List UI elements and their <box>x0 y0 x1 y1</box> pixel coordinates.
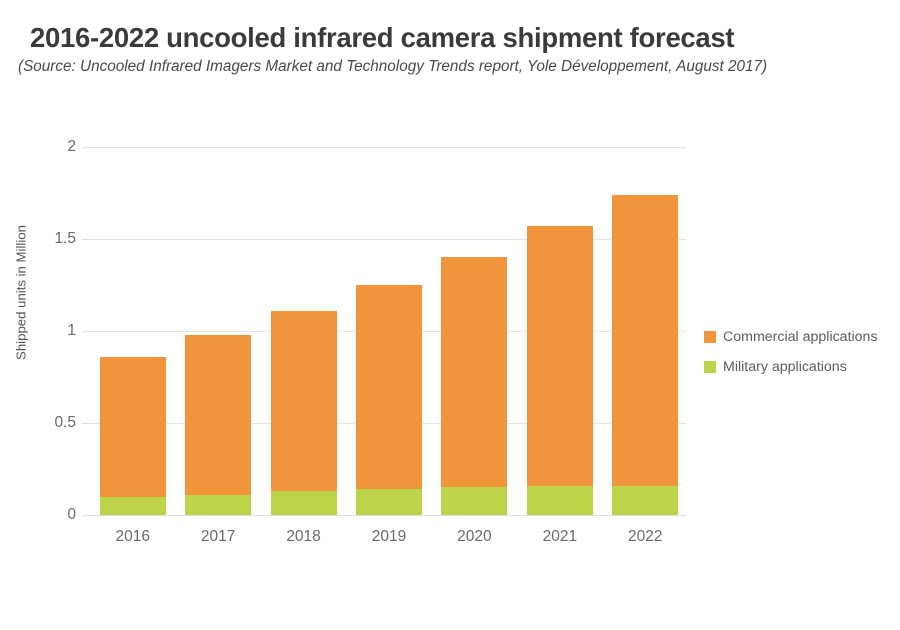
bar-segment-military[interactable] <box>356 489 422 515</box>
gridline <box>88 147 686 148</box>
axis-baseline <box>88 515 686 516</box>
bar-group[interactable] <box>612 195 678 515</box>
bar-segment-commercial[interactable] <box>612 195 678 486</box>
x-tick-label: 2019 <box>356 528 422 546</box>
bar-group[interactable] <box>271 311 337 515</box>
plot-area <box>88 147 686 515</box>
legend-item[interactable]: Commercial applications <box>704 325 894 349</box>
bar-segment-commercial[interactable] <box>356 285 422 489</box>
chart-title: 2016-2022 uncooled infrared camera shipm… <box>30 22 880 54</box>
legend-swatch-icon <box>704 331 716 343</box>
legend-swatch-icon <box>704 361 716 373</box>
bar-segment-military[interactable] <box>185 495 251 515</box>
chart-legend: Commercial applicationsMilitary applicat… <box>704 325 894 385</box>
y-axis-ticks: 00.511.52 <box>14 147 76 515</box>
bar-group[interactable] <box>356 285 422 515</box>
bar-segment-military[interactable] <box>100 497 166 515</box>
y-tick-label: 2 <box>16 138 76 156</box>
chart-container: 2016-2022 uncooled infrared camera shipm… <box>0 0 900 630</box>
bar-segment-military[interactable] <box>441 487 507 515</box>
bar-segment-military[interactable] <box>527 486 593 515</box>
bar-group[interactable] <box>185 335 251 515</box>
legend-label: Military applications <box>723 359 847 375</box>
x-tick-label: 2016 <box>100 528 166 546</box>
x-tick-label: 2022 <box>612 528 678 546</box>
y-tick-label: 1 <box>16 322 76 340</box>
legend-label: Commercial applications <box>723 329 878 345</box>
y-tick-label: 1.5 <box>16 230 76 248</box>
bar-segment-military[interactable] <box>271 491 337 515</box>
y-tick-label: 0.5 <box>16 414 76 432</box>
x-tick-label: 2017 <box>185 528 251 546</box>
bar-group[interactable] <box>100 357 166 515</box>
gridline <box>88 239 686 240</box>
bar-segment-commercial[interactable] <box>185 335 251 495</box>
bar-segment-commercial[interactable] <box>271 311 337 491</box>
chart-subtitle-source: (Source: Uncooled Infrared Imagers Marke… <box>18 58 888 76</box>
bar-segment-commercial[interactable] <box>100 357 166 497</box>
x-tick-label: 2021 <box>527 528 593 546</box>
x-tick-label: 2020 <box>441 528 507 546</box>
y-tick-label: 0 <box>16 506 76 524</box>
bar-group[interactable] <box>527 226 593 515</box>
bar-segment-military[interactable] <box>612 486 678 515</box>
x-tick-label: 2018 <box>271 528 337 546</box>
bar-segment-commercial[interactable] <box>441 257 507 487</box>
bar-group[interactable] <box>441 257 507 515</box>
legend-item[interactable]: Military applications <box>704 355 894 379</box>
bar-segment-commercial[interactable] <box>527 226 593 485</box>
